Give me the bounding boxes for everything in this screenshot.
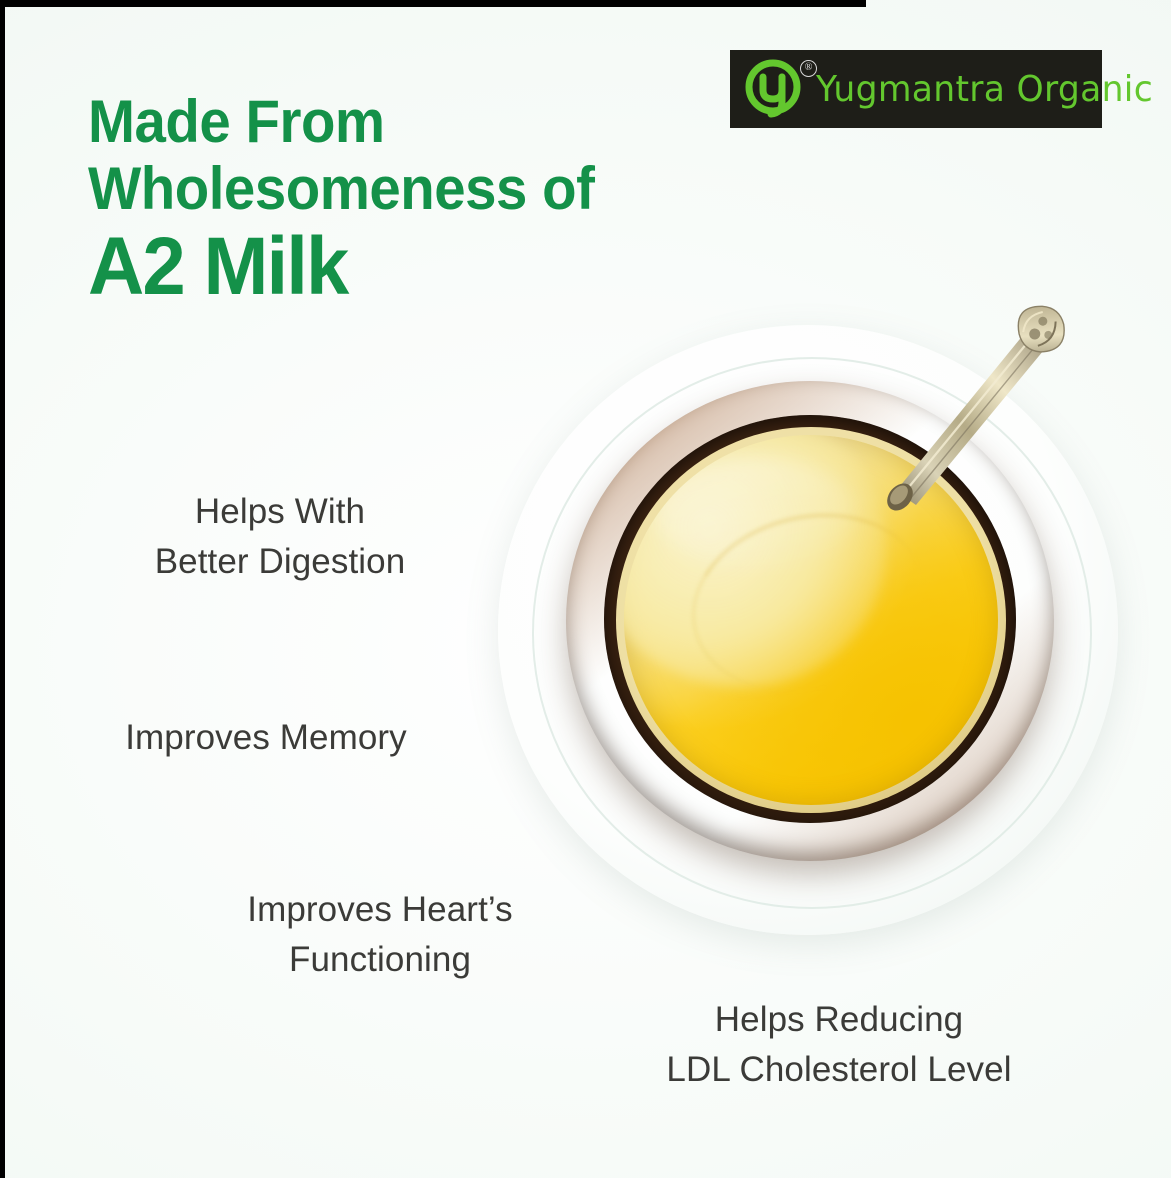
benefit-digestion: Helps With Better Digestion xyxy=(70,487,490,588)
frame-left-rule xyxy=(0,0,5,1178)
benefit-ldl-cholesterol: Helps Reducing LDL Cholesterol Level xyxy=(600,995,1078,1096)
headline-line-2: Wholesomeness of xyxy=(88,160,594,219)
benefit-memory: Improves Memory xyxy=(56,713,476,763)
ghee-surface xyxy=(624,435,998,805)
frame-top-strip xyxy=(0,0,866,7)
page-title: Made From Wholesomeness of A2 Milk xyxy=(88,93,627,307)
brand-name: Yugmantra Organic xyxy=(816,69,1153,110)
benefit-heart: Improves Heart’s Functioning xyxy=(178,885,582,986)
ghee-gloss xyxy=(654,457,856,568)
headline-line-1: Made From xyxy=(88,93,594,152)
registered-trademark-icon: ® xyxy=(800,60,817,77)
product-photo xyxy=(470,285,1150,965)
ad-creative-canvas: Made From Wholesomeness of A2 Milk ® Yug… xyxy=(0,0,1171,1178)
y-circle-logo-icon: ® xyxy=(744,58,806,120)
brand-logo-badge: ® Yugmantra Organic xyxy=(730,50,1102,128)
wooden-bowl xyxy=(566,381,1054,861)
